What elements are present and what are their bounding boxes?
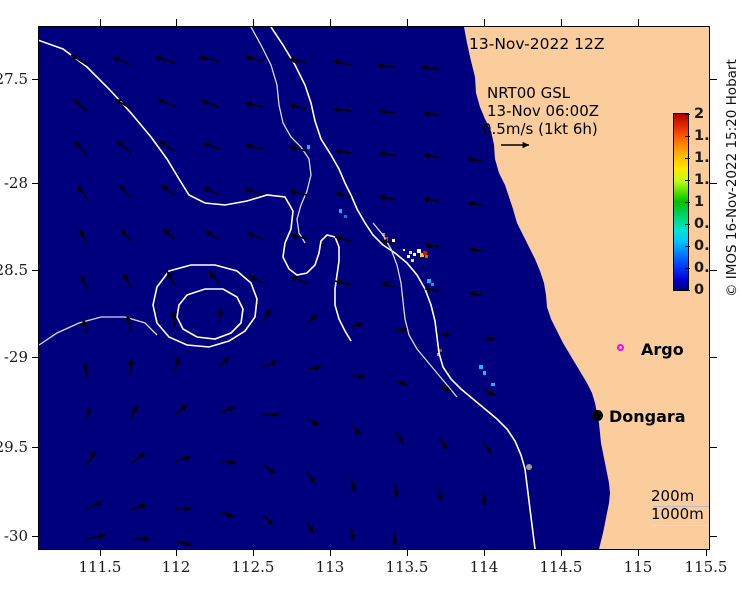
x-tick-label-4: 113.5 <box>386 558 429 576</box>
x-tick-label-8: 115.5 <box>685 558 728 576</box>
map-plot-area[interactable]: 13-Nov-2022 12Z NRT00 GSL 13-Nov 06:00Z … <box>38 26 710 550</box>
x-tick-label-3: 113 <box>316 558 345 576</box>
y-tick-label-0: -27.5 <box>0 70 28 88</box>
depth-200m-line <box>653 506 710 507</box>
copyright-label: © IMOS 16-Nov-2022 15:20 Hobart <box>724 59 740 297</box>
x-tick-label-2: 112.5 <box>232 558 275 576</box>
colorbar-label-6: 0.5 <box>694 238 710 254</box>
colorbar-label-1: 1.75 <box>694 128 710 144</box>
model-name-label: NRT00 GSL <box>487 84 570 102</box>
vector-scale-label: 0.5m/s (1kt 6h) <box>482 120 598 138</box>
colorbar-label-3: 1.25 <box>694 172 710 188</box>
colorbar-label-7: 0.25 <box>694 260 710 276</box>
argo-marker-icon <box>617 344 624 351</box>
legend-argo-label: Argo <box>641 340 684 359</box>
x-tick-label-6: 114.5 <box>540 558 583 576</box>
quiver-key-arrow <box>499 139 535 151</box>
x-tick-label-0: 111.5 <box>79 558 122 576</box>
timestamp-label: 13-Nov-2022 12Z <box>469 35 604 53</box>
y-tick-label-2: -28.5 <box>0 261 28 279</box>
map-graphics <box>39 27 709 549</box>
station-dot <box>526 464 532 470</box>
x-tick-label-7: 115 <box>624 558 653 576</box>
colorbar-label-5: 0.75 <box>694 216 710 232</box>
dongara-marker-icon <box>592 410 603 421</box>
y-tick-label-3: -29 <box>0 348 28 366</box>
depth-1000m-label: 1000m <box>651 505 704 523</box>
model-time-label: 13-Nov 06:00Z <box>487 102 599 120</box>
map-canvas <box>39 27 709 549</box>
y-tick-label-5: -30 <box>0 527 28 545</box>
x-tick-label-1: 112 <box>162 558 191 576</box>
colorbar-label-0: 2 <box>694 106 704 122</box>
depth-contour-key: 200m 1000m <box>651 487 710 523</box>
colorbar-label-4: 1 <box>694 194 704 210</box>
map-figure: 13-Nov-2022 12Z NRT00 GSL 13-Nov 06:00Z … <box>0 0 740 592</box>
depth-1000m-line <box>653 525 710 526</box>
y-tick-label-1: -28 <box>0 174 28 192</box>
legend-dongara-label: Dongara <box>609 407 686 426</box>
x-tick-label-5: 114 <box>470 558 499 576</box>
colorbar-label-2: 1.5 <box>694 150 710 166</box>
y-tick-label-4: -29.5 <box>0 438 28 456</box>
depth-200m-label: 200m <box>651 487 694 505</box>
colorbar-label-8: 0 <box>694 282 704 298</box>
